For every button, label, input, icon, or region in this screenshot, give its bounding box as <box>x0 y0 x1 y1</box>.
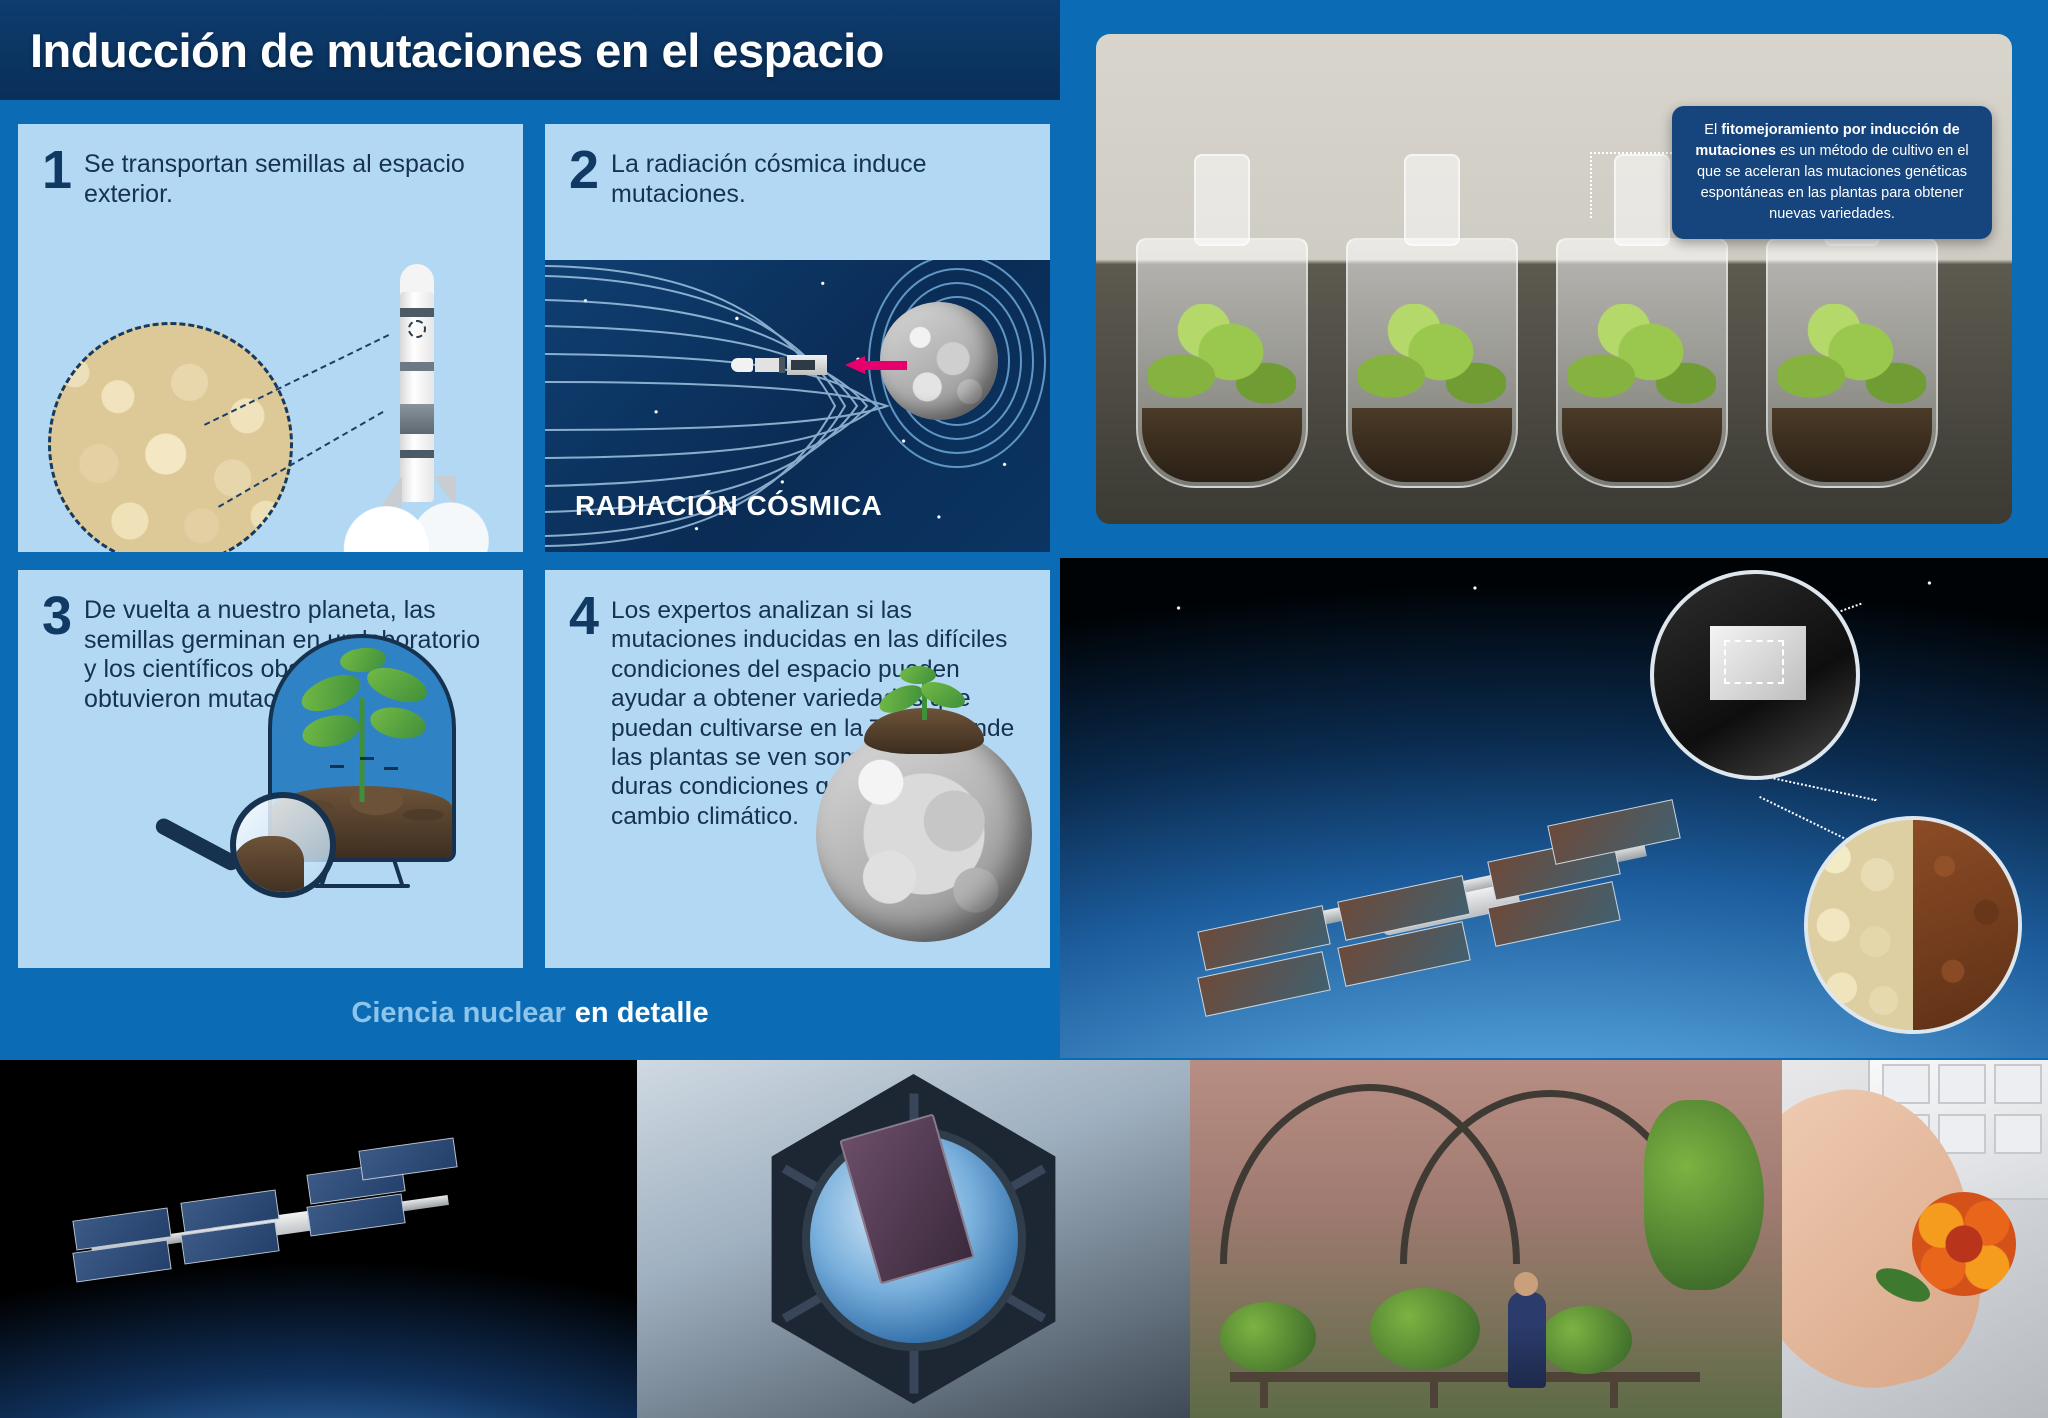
flask-neck <box>1404 154 1460 246</box>
arrow-head <box>845 356 865 374</box>
magnifier-lens <box>230 792 336 898</box>
photo-strip <box>0 1060 2048 1418</box>
humidity-mark <box>330 765 344 768</box>
radiation-label: RADIACIÓN CÓSMICA <box>575 489 882 522</box>
page-title: Inducción de mutaciones en el espacio <box>0 23 884 78</box>
step-4-number: 4 <box>569 592 599 831</box>
rocket-emblem-icon <box>408 320 426 338</box>
potted-plant <box>1370 1288 1480 1370</box>
mini-rocket-payload <box>791 360 815 370</box>
earth-globe <box>816 726 1032 942</box>
tray-cell <box>1938 1064 1986 1104</box>
step-2-text: La radiación cósmica induce mutaciones. <box>611 146 1026 209</box>
rocket-band-2 <box>400 362 434 371</box>
magnetosphere-illustration: RADIACIÓN CÓSMICA <box>545 260 1050 552</box>
mini-rocket-icon <box>731 354 827 376</box>
step-1-heading: 1 Se transportan semillas al espacio ext… <box>18 124 523 209</box>
tray-cell <box>1994 1064 2042 1104</box>
tray-cell <box>1994 1114 2042 1154</box>
flask-growth-media <box>1562 408 1722 482</box>
flask-neck <box>1194 154 1250 246</box>
humidity-mark <box>384 767 398 770</box>
photo-greenhouse-interior <box>1190 1060 1782 1418</box>
space-station-illustration <box>1190 768 1710 1008</box>
bench-post <box>1610 1374 1618 1408</box>
seeds-half <box>1808 820 1913 1030</box>
callout-leader-line <box>1590 152 1672 218</box>
culture-flask <box>1556 238 1728 488</box>
culture-flask <box>1766 238 1938 488</box>
leaf <box>297 667 366 718</box>
flasks-photo-frame: El fitomejoramiento por inducción de mut… <box>1096 34 2012 524</box>
footer-brand-light: Ciencia nuclear <box>351 997 565 1030</box>
stand-leg-right <box>392 858 404 886</box>
photo-iss-in-orbit <box>0 1060 637 1418</box>
cupola-illustration <box>749 1074 1079 1404</box>
magnifier-handle <box>153 816 242 873</box>
humidity-mark <box>360 757 374 760</box>
bench-post <box>1430 1374 1438 1408</box>
flask-plantlets <box>1358 304 1506 424</box>
photo-cupola-window <box>637 1060 1190 1418</box>
greenhouse-bench <box>1230 1372 1700 1382</box>
seedling-stem <box>360 698 365 802</box>
tray-cell <box>1938 1114 1986 1154</box>
rocket-illustration <box>318 254 523 550</box>
culture-flask <box>1136 238 1308 488</box>
infographic-header: Inducción de mutaciones en el espacio <box>0 0 1060 100</box>
flask-growth-media <box>1352 408 1512 482</box>
soil-half <box>1913 820 2018 1030</box>
flask-plantlets <box>1148 304 1296 424</box>
photo-hand-with-marigold <box>1782 1060 2048 1418</box>
marigold-flower <box>1912 1192 2016 1296</box>
rocket-band-3 <box>400 404 434 434</box>
flask-plantlets <box>1778 304 1926 424</box>
flask-growth-media <box>1142 408 1302 482</box>
rocket-band-1 <box>400 308 434 317</box>
foreground-foliage <box>1644 1100 1764 1290</box>
arrow-shaft <box>863 361 907 370</box>
leaf <box>900 666 936 684</box>
potted-plant <box>1220 1302 1316 1372</box>
researcher-head <box>1514 1272 1538 1296</box>
infographic-page: Inducción de mutaciones en el espacio 1 … <box>0 0 2048 1418</box>
callout-box: El fitomejoramiento por inducción de mut… <box>1672 106 1992 239</box>
culture-flask <box>1346 238 1518 488</box>
infographic-panel: Inducción de mutaciones en el espacio 1 … <box>0 0 1060 1058</box>
solar-panel <box>358 1137 457 1180</box>
step-2-number: 2 <box>569 146 599 209</box>
bench-post <box>1260 1374 1268 1408</box>
rocket-exhaust-plume <box>336 490 504 552</box>
mini-rocket-band <box>779 357 785 373</box>
step-1-number: 1 <box>42 146 72 209</box>
photo-tissue-culture-flasks: El fitomejoramiento por inducción de mut… <box>1060 0 2048 558</box>
radiation-arrow-icon <box>845 356 907 374</box>
earth-with-sprout-illustration <box>816 684 1032 942</box>
magnifier-icon <box>146 792 336 912</box>
seeds-photo-circle <box>48 322 293 552</box>
footer-brand-bold: en detalle <box>575 997 709 1030</box>
step-panel-4: 4 Los expertos analizan si las mutacione… <box>545 570 1050 968</box>
magnified-soil <box>232 836 304 898</box>
mini-rocket-nose <box>731 358 753 372</box>
step-panel-2: 2 La radiación cósmica induce mutaciones… <box>545 124 1050 552</box>
researcher-figure <box>1508 1292 1546 1388</box>
mini-rocket-mid <box>755 358 779 372</box>
zoom-selection-box <box>1724 640 1784 684</box>
seeds-and-soil-zoom-circle <box>1804 816 2022 1034</box>
potted-plant <box>1540 1306 1632 1374</box>
experiment-zoom-circle <box>1650 570 1860 780</box>
step-panel-1: 1 Se transportan semillas al espacio ext… <box>18 124 523 552</box>
flask-plantlets <box>1568 304 1716 424</box>
rocket-band-4 <box>400 450 434 458</box>
leaf <box>300 710 363 751</box>
callout-lead-text: El <box>1704 122 1721 138</box>
step-panel-3: 3 De vuelta a nuestro planeta, las semil… <box>18 570 523 968</box>
greenhouse-illustration <box>1190 1060 1782 1418</box>
space-station-illustration <box>60 1128 490 1318</box>
infographic-footer: Ciencia nuclear en detalle <box>0 968 1060 1058</box>
step-3-number: 3 <box>42 592 72 714</box>
flask-growth-media <box>1772 408 1932 482</box>
photo-space-station-over-earth <box>1060 558 2048 1058</box>
step-2-heading: 2 La radiación cósmica induce mutaciones… <box>545 124 1050 209</box>
step-1-text: Se transportan semillas al espacio exter… <box>84 146 499 209</box>
leaf <box>368 703 428 742</box>
